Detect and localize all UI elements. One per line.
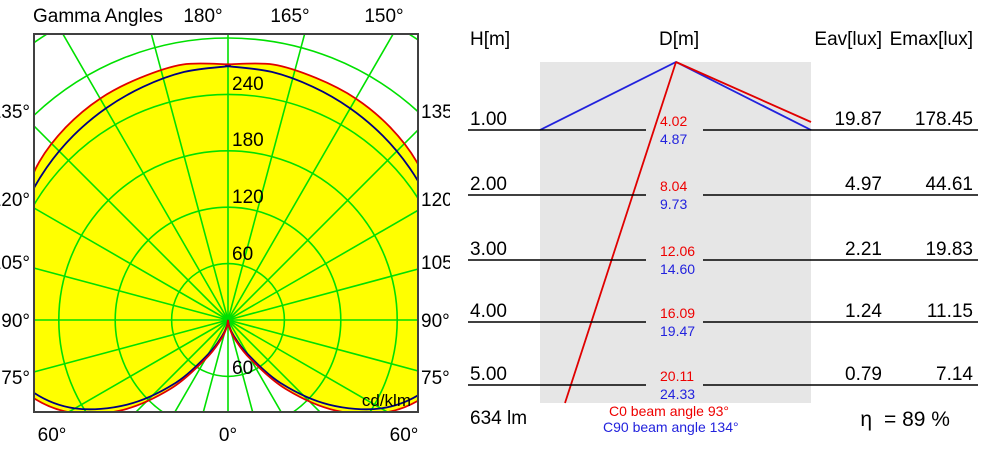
gamma-label-left-105: 105° xyxy=(0,253,30,274)
header-emax: Emax[lux] xyxy=(890,29,973,50)
cell-eav: 2.21 xyxy=(845,239,882,260)
polar-title: Gamma Angles xyxy=(33,6,163,27)
cell-distance-c90: 4.87 xyxy=(660,131,687,147)
luminous-flux: 634 lm xyxy=(470,408,527,429)
cell-eav: 0.79 xyxy=(845,364,882,385)
cell-emax: 19.83 xyxy=(925,239,973,260)
cell-eav: 4.97 xyxy=(845,174,882,195)
cell-emax: 178.45 xyxy=(915,109,973,130)
ring-label-60-down: 60 xyxy=(232,358,253,379)
cell-distance-c0: 4.02 xyxy=(660,113,687,129)
cell-emax: 44.61 xyxy=(925,174,973,195)
cell-distance-c90: 19.47 xyxy=(660,323,695,339)
gamma-label-left-135: 135° xyxy=(0,102,30,123)
ring-label-240: 240 xyxy=(232,74,264,95)
gamma-label-bottom-left-60: 60° xyxy=(38,425,67,446)
gamma-label-left-75: 75° xyxy=(1,368,30,389)
beam-angle-c0: C0 beam angle 93° xyxy=(609,403,729,419)
cell-eav: 1.24 xyxy=(845,301,882,322)
cell-distance-c0: 12.06 xyxy=(660,243,695,259)
cell-distance-c0: 20.11 xyxy=(660,368,694,384)
cell-height: 5.00 xyxy=(470,364,507,385)
gamma-label-165: 165° xyxy=(270,6,309,27)
gamma-label-bottom-0: 0° xyxy=(219,425,237,446)
header-eav: Eav[lux] xyxy=(814,29,882,50)
polar-diagram: Gamma Angles 180° 165° 150° 135° 120° 10… xyxy=(0,0,450,450)
photometric-report: Gamma Angles 180° 165° 150° 135° 120° 10… xyxy=(0,0,990,450)
ring-label-120: 120 xyxy=(232,187,264,208)
gamma-label-left-120: 120° xyxy=(0,190,30,211)
ring-label-180: 180 xyxy=(232,130,264,151)
cell-emax: 11.15 xyxy=(927,301,973,322)
intensity-unit-label: cd/klm xyxy=(362,391,411,410)
header-d: D[m] xyxy=(659,29,699,50)
gamma-label-right-105: 105° xyxy=(421,253,450,274)
gamma-label-left-90: 90° xyxy=(1,311,30,332)
cell-height: 1.00 xyxy=(470,109,507,130)
cell-emax: 7.14 xyxy=(936,364,973,385)
efficiency-value: = 89 % xyxy=(884,408,950,431)
gamma-label-right-75: 75° xyxy=(421,368,450,389)
gamma-label-bottom-right-60: 60° xyxy=(390,425,419,446)
cell-eav: 19.87 xyxy=(834,109,882,130)
gamma-label-right-135: 135° xyxy=(421,102,450,123)
gamma-label-right-90: 90° xyxy=(421,311,450,332)
cell-height: 2.00 xyxy=(470,174,507,195)
cell-distance-c0: 8.04 xyxy=(660,178,687,194)
cell-distance-c90: 9.73 xyxy=(660,196,687,212)
efficiency-symbol: η xyxy=(860,408,872,431)
illuminance-table-panel: H[m] D[m] Eav[lux] Emax[lux] 1.004.024.8… xyxy=(450,0,990,450)
cell-height: 4.00 xyxy=(470,301,507,322)
header-h: H[m] xyxy=(470,29,510,50)
gamma-label-150: 150° xyxy=(364,6,403,27)
cell-distance-c90: 14.60 xyxy=(660,261,695,277)
gamma-label-180: 180° xyxy=(183,6,222,27)
beam-angle-c90: C90 beam angle 134° xyxy=(603,419,739,435)
cell-distance-c90: 24.33 xyxy=(660,386,695,402)
ring-label-60-up: 60 xyxy=(232,244,253,265)
gamma-label-right-120: 120° xyxy=(421,190,450,211)
cell-distance-c0: 16.09 xyxy=(660,305,695,321)
cell-height: 3.00 xyxy=(470,239,507,260)
